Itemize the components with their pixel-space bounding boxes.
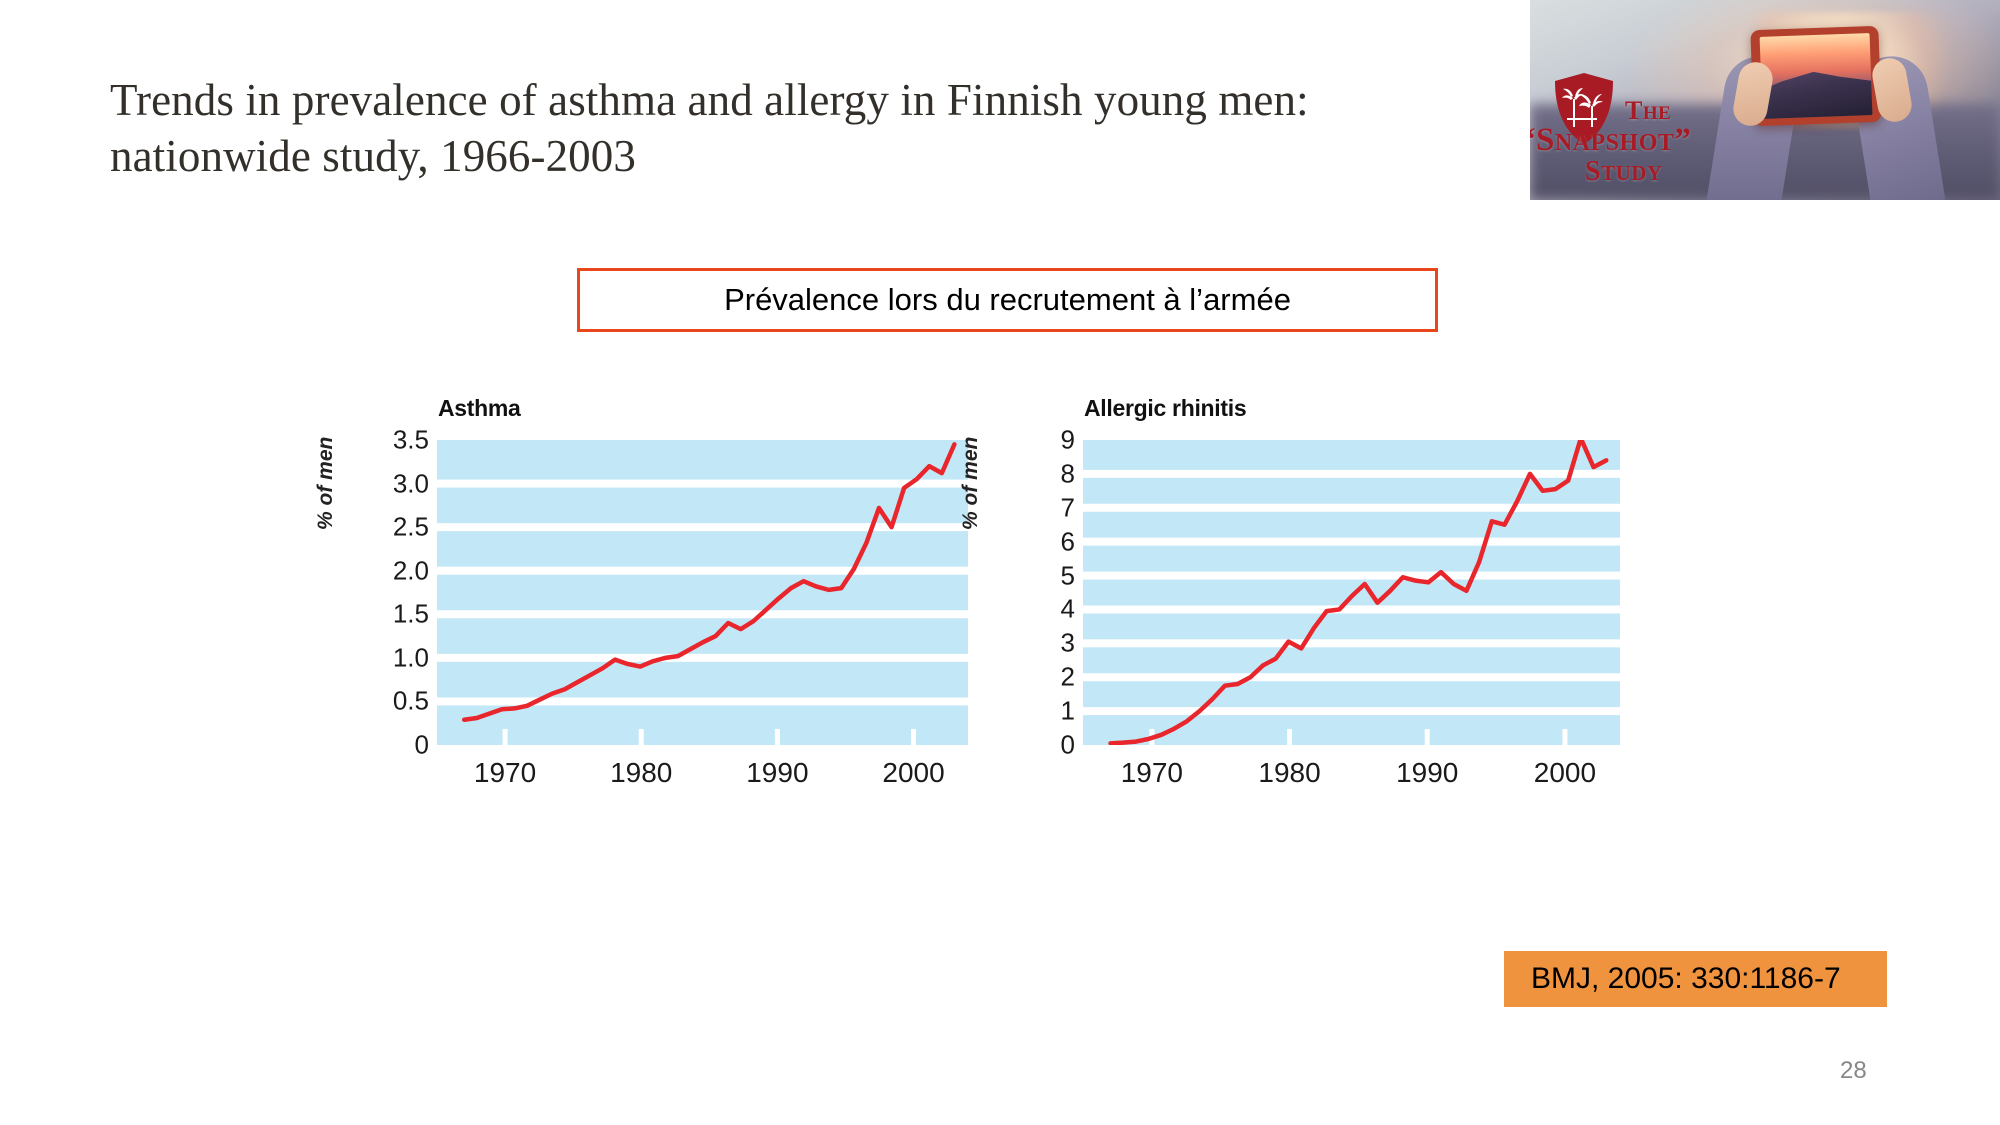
gridline	[1083, 470, 1620, 478]
y-tick-label: 2	[1047, 662, 1075, 693]
x-tick-label: 2000	[882, 757, 944, 789]
x-tick-label: 1970	[1121, 757, 1183, 789]
chart-rhinitis-series-line	[1111, 440, 1607, 743]
x-tick-mark	[1287, 729, 1292, 745]
gridline	[1083, 538, 1620, 546]
snapshot-study-banner-image: THE “SNAPSHOT” STUDY	[1530, 0, 2000, 200]
slide-canvas: Trends in prevalence of asthma and aller…	[0, 0, 2000, 1125]
citation-box: BMJ, 2005: 330:1186-7	[1504, 951, 1887, 1007]
y-tick-label: 9	[1047, 425, 1075, 456]
gridline	[1083, 605, 1620, 613]
y-tick-label: 2.0	[357, 555, 429, 586]
callout-box: Prévalence lors du recrutement à l’armée	[577, 268, 1438, 332]
chart-rhinitis-gridlines	[1083, 470, 1620, 715]
y-tick-label: 4	[1047, 594, 1075, 625]
y-tick-label: 3.0	[357, 468, 429, 499]
x-tick-mark	[911, 729, 916, 745]
y-tick-label: 0.5	[357, 686, 429, 717]
y-tick-label: 5	[1047, 560, 1075, 591]
y-tick-label: 2.5	[357, 512, 429, 543]
chart-asthma-ylabel: % of men	[314, 437, 338, 530]
gridline	[437, 697, 968, 705]
gridline	[1083, 639, 1620, 647]
x-tick-label: 1980	[610, 757, 672, 789]
callout-text: Prévalence lors du recrutement à l’armée	[724, 282, 1291, 318]
logo-line-snapshot: “SNAPSHOT”	[1530, 122, 1691, 159]
chart-allergic-rhinitis: Allergic rhinitis % of men 0123456789 19…	[830, 395, 1630, 695]
logo-line-study: STUDY	[1585, 156, 1663, 188]
gridline	[1083, 572, 1620, 580]
x-tick-mark	[1425, 729, 1430, 745]
chart-rhinitis-tickmarks	[1149, 729, 1567, 745]
x-tick-label: 2000	[1534, 757, 1596, 789]
y-tick-label: 0	[1047, 730, 1075, 761]
gridline	[1083, 707, 1620, 715]
chart-asthma-tickmarks	[503, 729, 916, 745]
y-tick-label: 1	[1047, 696, 1075, 727]
page-title: Trends in prevalence of asthma and aller…	[110, 72, 1520, 185]
chart-rhinitis-ylabel: % of men	[959, 437, 983, 530]
x-tick-label: 1990	[1396, 757, 1458, 789]
snapshot-study-logo: THE “SNAPSHOT” STUDY	[1530, 68, 1755, 200]
chart-asthma-title: Asthma	[438, 395, 521, 422]
y-tick-label: 7	[1047, 492, 1075, 523]
x-tick-label: 1990	[746, 757, 808, 789]
x-tick-mark	[503, 729, 508, 745]
y-tick-label: 6	[1047, 526, 1075, 557]
tablet-screen	[1760, 33, 1873, 119]
gridline	[1083, 504, 1620, 512]
y-tick-label: 1.5	[357, 599, 429, 630]
chart-rhinitis-plot-area	[1083, 440, 1620, 745]
page-number: 28	[1840, 1057, 1867, 1085]
y-tick-label: 3	[1047, 628, 1075, 659]
chart-rhinitis-svg	[1083, 440, 1620, 745]
x-tick-label: 1970	[474, 757, 536, 789]
x-tick-mark	[775, 729, 780, 745]
gridline	[1083, 673, 1620, 681]
citation-text: BMJ, 2005: 330:1186-7	[1504, 962, 1841, 996]
y-tick-label: 3.5	[357, 425, 429, 456]
x-tick-mark	[639, 729, 644, 745]
y-tick-label: 0	[357, 730, 429, 761]
chart-rhinitis-title: Allergic rhinitis	[1084, 395, 1246, 422]
y-tick-label: 1.0	[357, 642, 429, 673]
y-tick-label: 8	[1047, 458, 1075, 489]
x-tick-mark	[1562, 729, 1567, 745]
x-tick-label: 1980	[1258, 757, 1320, 789]
